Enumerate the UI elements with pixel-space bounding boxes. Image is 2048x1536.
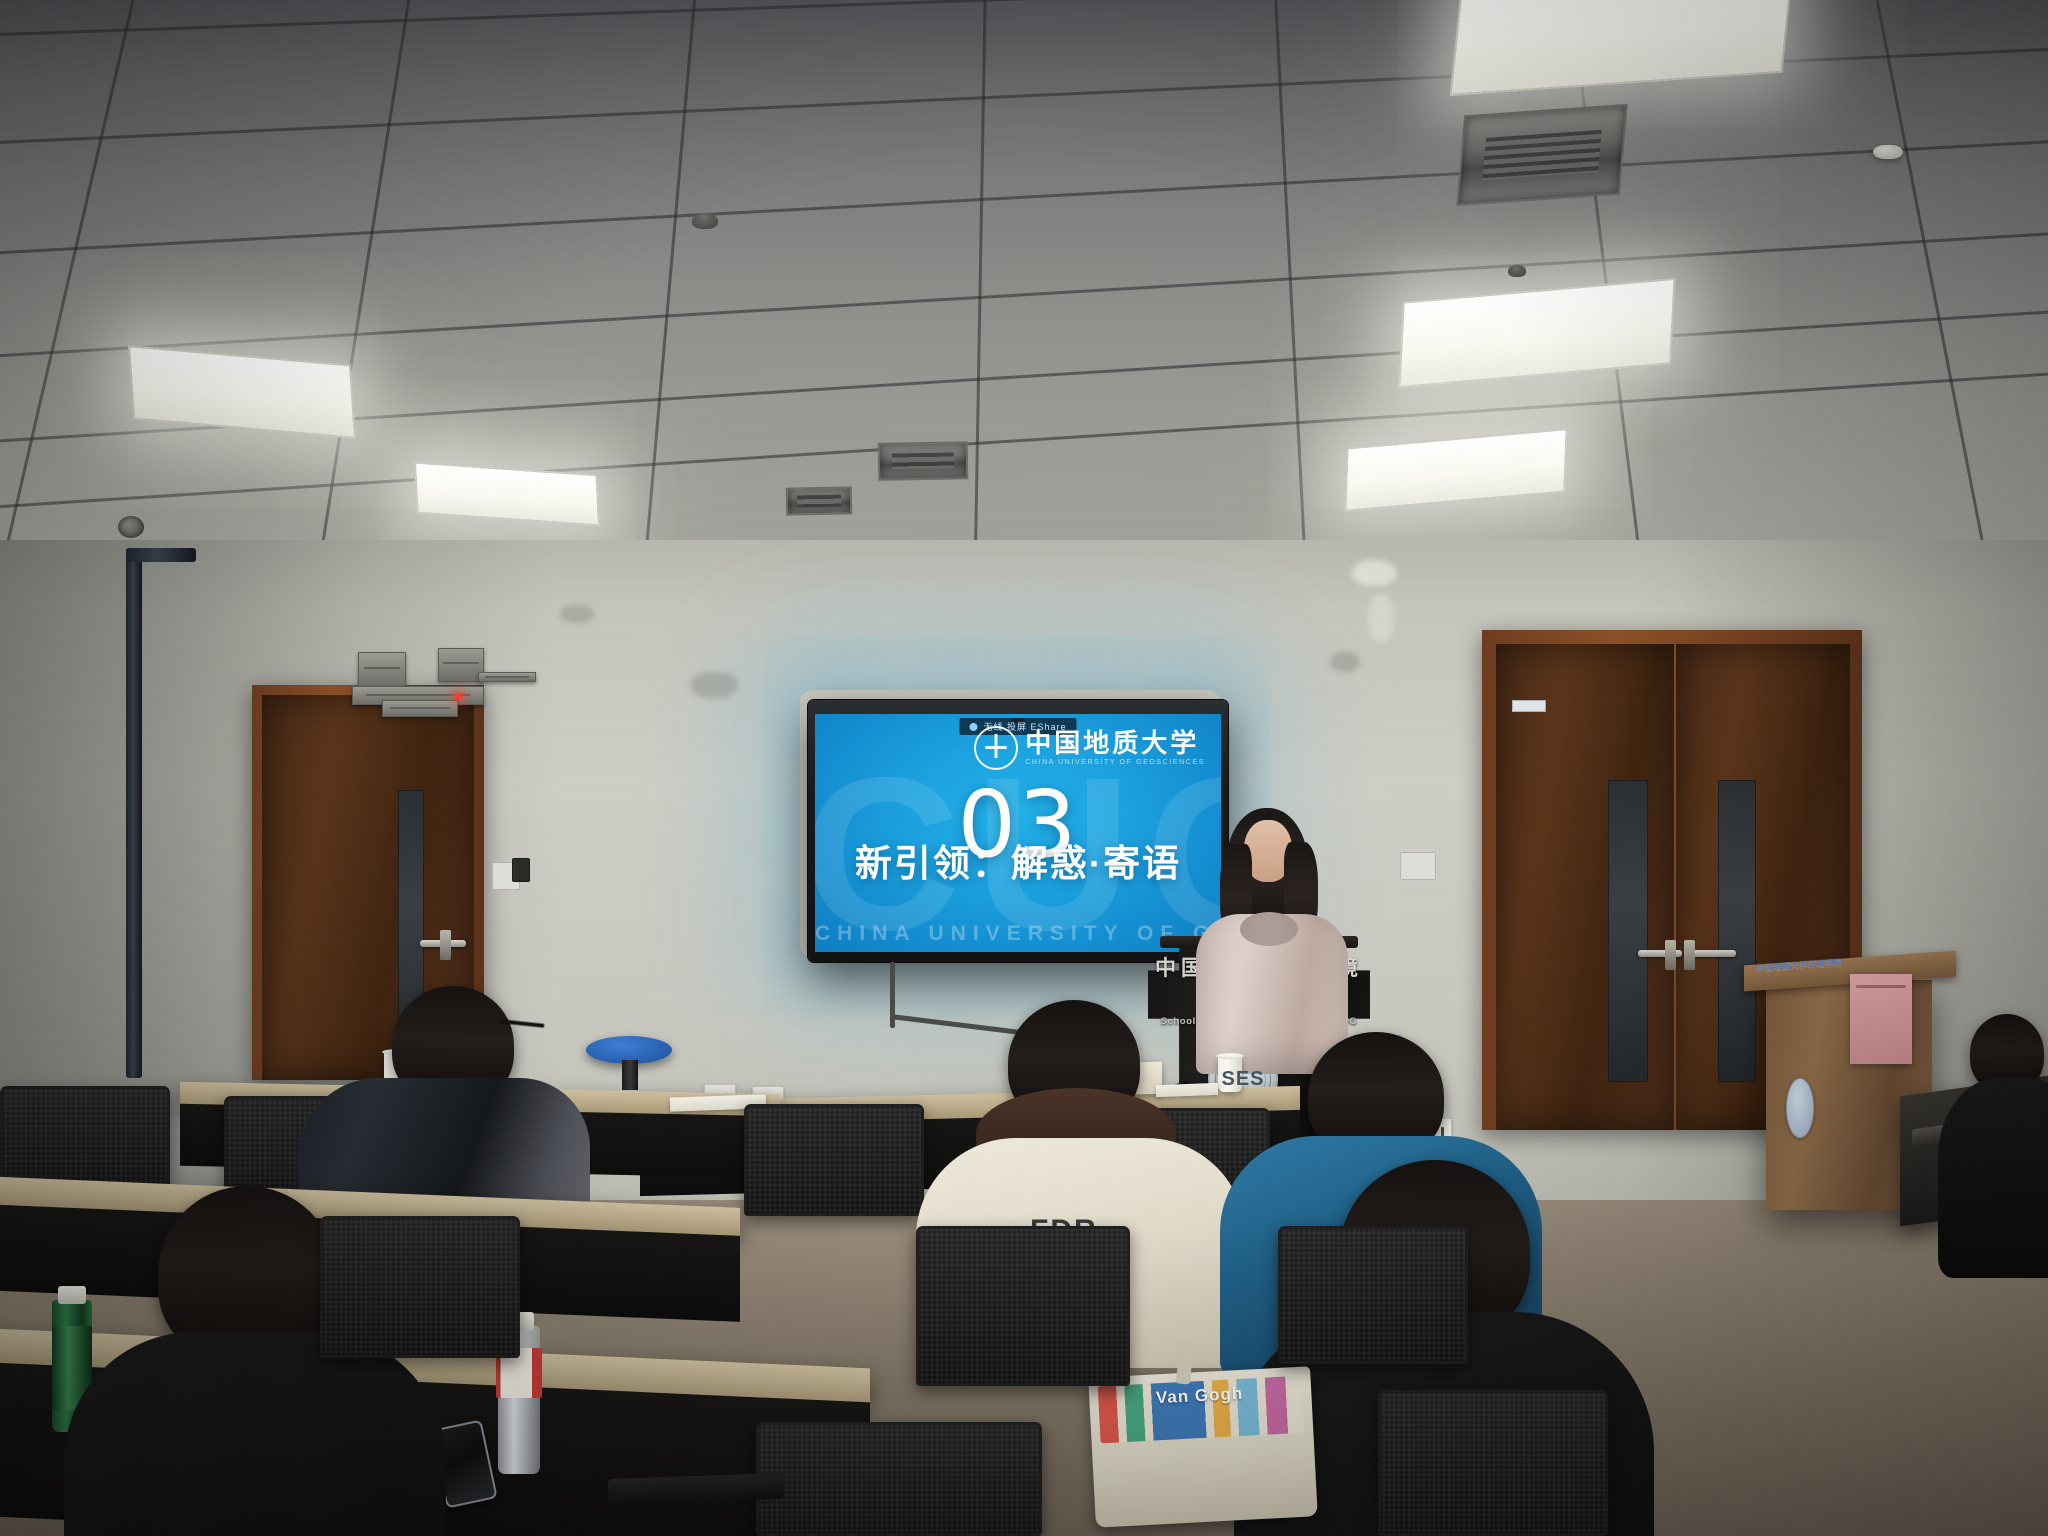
university-emblem-icon xyxy=(974,726,1018,770)
chair-nearest-mid[interactable] xyxy=(1378,1390,1608,1536)
loose-papers xyxy=(1156,1083,1218,1097)
tote-bag[interactable]: Van Gogh xyxy=(1088,1366,1318,1527)
right-door-glass-right xyxy=(1718,780,1756,1082)
wall-scuff xyxy=(1330,652,1360,672)
student-body xyxy=(64,1332,446,1536)
air-vent xyxy=(1456,104,1628,206)
door-sensor-led-icon xyxy=(455,693,462,700)
university-logo-english: CHINA UNIVERSITY OF GEOSCIENCES xyxy=(1025,759,1205,766)
wall-scuff xyxy=(1368,594,1394,642)
stool-post xyxy=(622,1060,638,1090)
presenter xyxy=(1192,808,1352,998)
door-closer-bracket xyxy=(358,652,406,688)
presenter-collar xyxy=(1240,912,1298,946)
university-logo-chinese: 中国地质大学 xyxy=(1025,730,1205,756)
presentation-display[interactable]: CUG 无线 投屏 EShare 中国地质大学 CHINA UNIVERSITY… xyxy=(808,700,1228,962)
wall-panel-dark xyxy=(512,858,530,882)
ceiling-speaker-icon xyxy=(118,516,144,538)
lecture-hall-photo: CUG 无线 投屏 EShare 中国地质大学 CHINA UNIVERSITY… xyxy=(0,0,2048,1536)
door-closer-arm xyxy=(478,672,536,682)
slide-title: 新引领：解惑·寄语 xyxy=(815,833,1221,887)
smoke-detector-icon xyxy=(1873,145,1903,159)
right-door-glass-left xyxy=(1608,780,1648,1082)
wall-conduit xyxy=(126,548,142,1078)
chair-front-mid[interactable] xyxy=(916,1226,1130,1386)
bottle-cap xyxy=(58,1286,86,1304)
wall-sensor-plate xyxy=(1400,852,1436,880)
ceiling-light-panel xyxy=(1449,0,1794,96)
chair-back-right[interactable] xyxy=(744,1104,924,1216)
seal-text: SES xyxy=(1221,1068,1264,1091)
ceiling xyxy=(0,0,2048,560)
ceiling-fixture xyxy=(692,213,718,229)
air-vent xyxy=(878,441,969,481)
door-sticker-label xyxy=(1512,700,1546,712)
lectern-notice-paper xyxy=(1850,974,1912,1064)
ceiling-light-panel xyxy=(1344,428,1567,512)
chair-front-left[interactable] xyxy=(320,1216,520,1358)
wall-scuff xyxy=(690,672,738,698)
lectern-badge-icon xyxy=(1786,1078,1814,1138)
notice-paper-text xyxy=(1856,985,1906,988)
wall-scuff xyxy=(560,605,594,623)
ceiling-fixture xyxy=(1508,265,1526,277)
chair-front-right[interactable] xyxy=(1278,1226,1468,1364)
right-door-handle-right[interactable] xyxy=(1692,950,1736,957)
display-screen: CUG 无线 投屏 EShare 中国地质大学 CHINA UNIVERSITY… xyxy=(815,714,1221,952)
door-closer-arm xyxy=(382,700,458,717)
av-operator-body xyxy=(1938,1078,2048,1278)
right-door-lock-plate-right xyxy=(1684,940,1695,970)
left-door-lock-plate xyxy=(440,930,451,960)
wall-scuff xyxy=(1352,560,1396,586)
ceiling-light-panel xyxy=(414,461,600,526)
ceiling-light-panel xyxy=(128,345,356,439)
right-door-lock-plate-left xyxy=(1665,940,1676,970)
air-vent xyxy=(786,486,852,515)
chair-nearest-left[interactable] xyxy=(756,1422,1042,1536)
wall-conduit xyxy=(126,548,196,562)
university-logo: 中国地质大学 CHINA UNIVERSITY OF GEOSCIENCES xyxy=(974,726,1205,770)
ceiling-light-panel xyxy=(1398,278,1676,389)
